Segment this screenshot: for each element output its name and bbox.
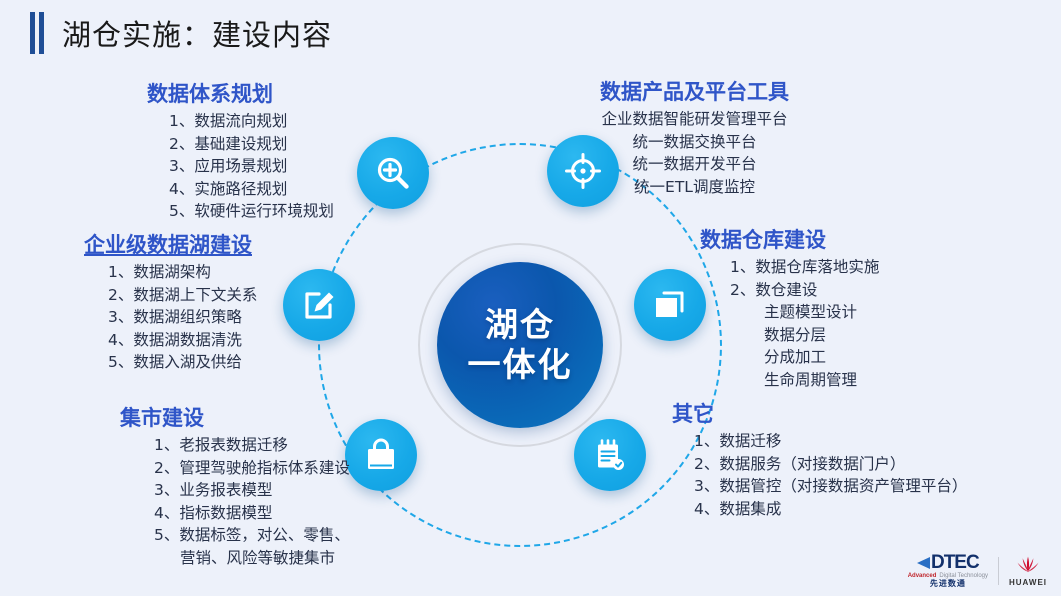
copy-icon (650, 285, 690, 325)
list-item: 5、数据入湖及供给 (108, 351, 257, 373)
block-warehouse-list: 1、数据仓库落地实施 2、数仓建设 主题模型设计 数据分层 分成加工 生命周期管… (700, 256, 879, 391)
node-other[interactable] (574, 419, 646, 491)
list-item-sub: 主题模型设计 (730, 301, 879, 323)
slide-canvas: 湖仓实施：建设内容 湖仓 一体化 (0, 0, 1061, 596)
dtec-arrow-icon (917, 557, 930, 569)
block-planning-list: 1、数据流向规划 2、基础建设规划 3、应用场景规划 4、实施路径规划 5、软硬… (147, 110, 334, 222)
dtec-wordmark: DTEC (931, 553, 979, 572)
block-other-list: 1、数据迁移 2、数据服务（对接数据门户） 3、数据管控（对接数据资产管理平台）… (672, 430, 967, 520)
huawei-wordmark: HUAWEI (1009, 578, 1047, 587)
list-item: 4、指标数据模型 (154, 502, 350, 524)
dtec-logo: DTEC Advanced Digital Technology 先进数通 (908, 553, 988, 588)
block-data-lake-list: 1、数据湖架构 2、数据湖上下文关系 3、数据湖组织策略 4、数据湖数据清洗 5… (84, 261, 257, 373)
list-item: 统一数据交换平台 (600, 131, 789, 153)
block-warehouse-title: 数据仓库建设 (700, 228, 879, 253)
block-data-mart: 集市建设 1、老报表数据迁移 2、管理驾驶舱指标体系建设 3、业务报表模型 4、… (120, 406, 350, 569)
list-item: 2、管理驾驶舱指标体系建设 (154, 457, 350, 479)
block-other-title: 其它 (672, 402, 967, 427)
zoom-in-icon (373, 153, 413, 193)
list-item: 统一ETL调度监控 (600, 176, 789, 198)
list-item: 3、数据管控（对接数据资产管理平台） (694, 475, 967, 497)
list-item: 5、软硬件运行环境规划 (169, 200, 334, 222)
notepad-check-icon (590, 435, 630, 475)
center-hub: 湖仓 一体化 (437, 262, 603, 428)
footer-logos: DTEC Advanced Digital Technology 先进数通 (908, 553, 1047, 588)
list-item: 1、数据湖架构 (108, 261, 257, 283)
block-warehouse: 数据仓库建设 1、数据仓库落地实施 2、数仓建设 主题模型设计 数据分层 分成加… (700, 228, 879, 391)
block-other: 其它 1、数据迁移 2、数据服务（对接数据门户） 3、数据管控（对接数据资产管理… (672, 402, 967, 520)
block-planning-title: 数据体系规划 (147, 82, 334, 107)
list-item: 4、实施路径规划 (169, 178, 334, 200)
block-products: 数据产品及平台工具 企业数据智能研发管理平台 统一数据交换平台 统一数据开发平台… (600, 80, 789, 198)
block-products-title: 数据产品及平台工具 (600, 80, 789, 105)
list-item: 2、数仓建设 (730, 279, 879, 301)
list-item: 5、数据标签，对公、零售、 (154, 524, 350, 546)
edit-icon (299, 285, 339, 325)
list-item: 1、数据迁移 (694, 430, 967, 452)
huawei-logo: HUAWEI (1009, 555, 1047, 587)
list-item: 1、老报表数据迁移 (154, 434, 350, 456)
list-item: 企业数据智能研发管理平台 (600, 108, 789, 130)
block-data-mart-list: 1、老报表数据迁移 2、管理驾驶舱指标体系建设 3、业务报表模型 4、指标数据模… (120, 434, 350, 569)
list-item-sub: 分成加工 (730, 346, 879, 368)
node-data-lake[interactable] (283, 269, 355, 341)
node-planning[interactable] (357, 137, 429, 209)
list-item: 2、基础建设规划 (169, 133, 334, 155)
list-item-continued: 营销、风险等敏捷集市 (154, 547, 350, 569)
list-item: 3、应用场景规划 (169, 155, 334, 177)
list-item: 2、数据湖上下文关系 (108, 284, 257, 306)
list-item: 4、数据集成 (694, 498, 967, 520)
block-data-lake: 企业级数据湖建设 1、数据湖架构 2、数据湖上下文关系 3、数据湖组织策略 4、… (84, 233, 257, 374)
dtec-chinese-name: 先进数通 (930, 580, 966, 588)
node-warehouse[interactable] (634, 269, 706, 341)
list-item-sub: 数据分层 (730, 324, 879, 346)
block-data-mart-title: 集市建设 (120, 406, 350, 431)
list-item: 1、数据仓库落地实施 (730, 256, 879, 278)
center-hub-label: 湖仓 一体化 (468, 305, 573, 386)
list-item: 2、数据服务（对接数据门户） (694, 453, 967, 475)
block-planning: 数据体系规划 1、数据流向规划 2、基础建设规划 3、应用场景规划 4、实施路径… (147, 82, 334, 223)
list-item: 统一数据开发平台 (600, 153, 789, 175)
footer-divider (998, 557, 999, 585)
block-data-lake-title: 企业级数据湖建设 (84, 233, 257, 258)
list-item: 3、业务报表模型 (154, 479, 350, 501)
shopping-bag-icon (361, 435, 401, 475)
center-line-1: 湖仓 (468, 305, 573, 345)
center-line-2: 一体化 (468, 345, 573, 385)
list-item: 4、数据湖数据清洗 (108, 329, 257, 351)
node-data-mart[interactable] (345, 419, 417, 491)
list-item: 1、数据流向规划 (169, 110, 334, 132)
target-icon (563, 151, 603, 191)
list-item: 3、数据湖组织策略 (108, 306, 257, 328)
block-products-list: 企业数据智能研发管理平台 统一数据交换平台 统一数据开发平台 统一ETL调度监控 (600, 108, 789, 198)
list-item-sub: 生命周期管理 (730, 369, 879, 391)
huawei-flower-icon (1012, 555, 1044, 577)
